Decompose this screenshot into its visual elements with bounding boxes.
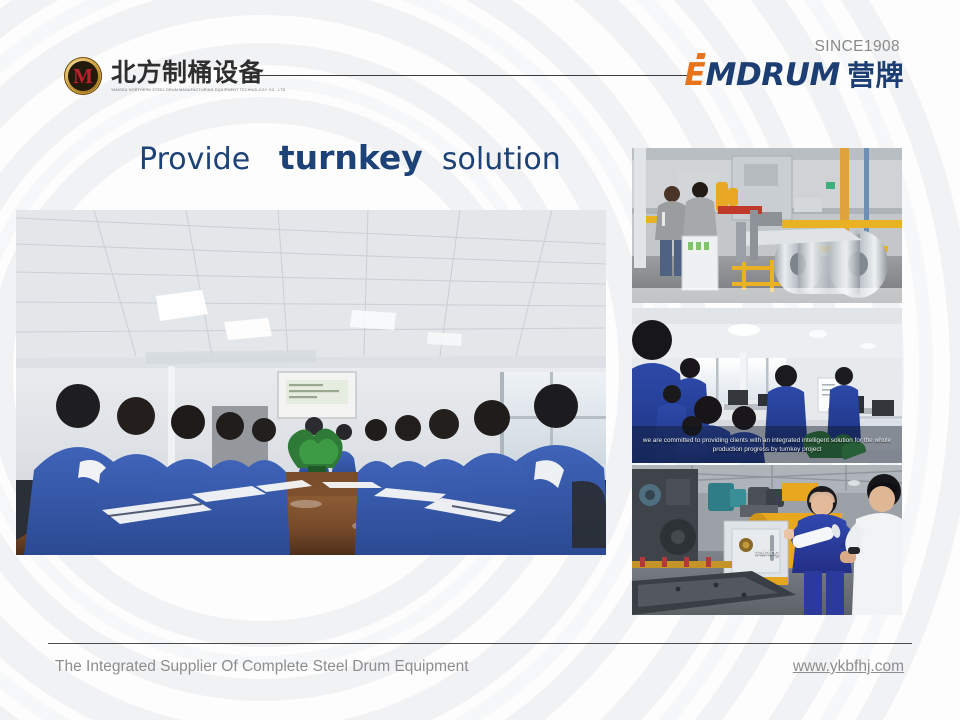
title-trail: solution [442, 142, 561, 177]
brand-logo-right: SINCE1908 E MDRUM 营牌 [684, 38, 904, 91]
brand-initial-letter: E [684, 60, 705, 91]
footer-divider-rule [48, 643, 912, 644]
office-training-photo: we are committed to providing clients wi… [632, 308, 902, 463]
company-name-chinese: 北方制桶设备 [111, 60, 286, 86]
gold-seal-emblem-icon [64, 57, 102, 95]
company-logo-left: 北方制桶设备 YANGDU NORTHERN STEEL DRUM MANUFA… [64, 57, 286, 95]
since-label: SINCE1908 [684, 38, 900, 56]
title-keyword: turnkey [279, 138, 423, 177]
brand-wordmark: MDRUM [706, 60, 840, 91]
footer-website-link[interactable]: www.ykbfhj.com [793, 658, 904, 676]
meeting-room-photo [16, 210, 606, 555]
slide-title: Provide turnkey solution [139, 139, 561, 179]
photo-caption-office: we are committed to providing clients wi… [632, 436, 902, 454]
brand-wordmark-chinese: 营牌 [847, 60, 904, 91]
on-site-training-photo: training [632, 465, 902, 615]
title-lead: Provide [139, 142, 250, 177]
company-name-english: YANGDU NORTHERN STEEL DRUM MANUFACTURING… [111, 87, 286, 93]
header-divider-rule [253, 75, 690, 76]
coil-line-factory-photo [632, 148, 902, 303]
footer-tagline: The Integrated Supplier Of Complete Stee… [55, 658, 469, 676]
presentation-slide: 北方制桶设备 YANGDU NORTHERN STEEL DRUM MANUFA… [0, 0, 960, 720]
photo-caption-training: training [632, 548, 902, 557]
slide-header: 北方制桶设备 YANGDU NORTHERN STEEL DRUM MANUFA… [0, 0, 960, 115]
